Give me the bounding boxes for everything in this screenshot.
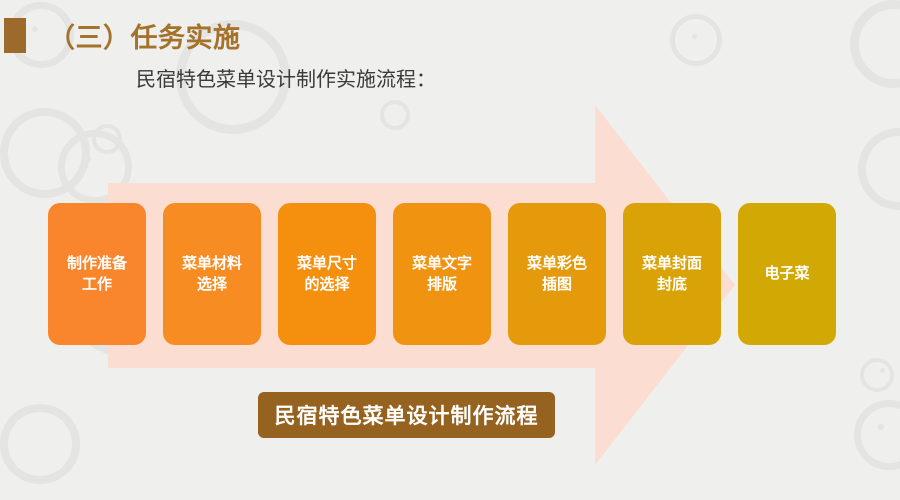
page-title: （三）任务实施 (48, 16, 241, 55)
process-step-6[interactable]: 菜单封面 封底 (623, 203, 721, 345)
process-step-label: 电子菜 (764, 263, 809, 284)
process-step-3[interactable]: 菜单尺寸 的选择 (278, 203, 376, 345)
process-step-5[interactable]: 菜单彩色 插图 (508, 203, 606, 345)
process-step-label: 菜单彩色 插图 (527, 253, 587, 296)
process-caption-badge: 民宿特色菜单设计制作流程 (258, 392, 555, 438)
process-step-label: 菜单尺寸 的选择 (297, 253, 357, 296)
process-step-label: 菜单封面 封底 (642, 253, 702, 296)
process-step-label: 菜单文字 排版 (412, 253, 472, 296)
process-step-1[interactable]: 制作准备 工作 (48, 203, 146, 345)
process-caption-label: 民宿特色菜单设计制作流程 (275, 400, 539, 430)
process-step-2[interactable]: 菜单材料 选择 (163, 203, 261, 345)
process-step-4[interactable]: 菜单文字 排版 (393, 203, 491, 345)
process-step-list: 制作准备 工作菜单材料 选择菜单尺寸 的选择菜单文字 排版菜单彩色 插图菜单封面… (48, 203, 848, 345)
title-accent-square (4, 18, 26, 53)
process-step-label: 制作准备 工作 (67, 253, 127, 296)
slide-canvas: （三）任务实施 民宿特色菜单设计制作实施流程： 制作准备 工作菜单材料 选择菜单… (0, 0, 900, 500)
page-subtitle: 民宿特色菜单设计制作实施流程： (136, 63, 436, 92)
process-step-label: 菜单材料 选择 (182, 253, 242, 296)
process-step-7[interactable]: 电子菜 (738, 203, 836, 345)
